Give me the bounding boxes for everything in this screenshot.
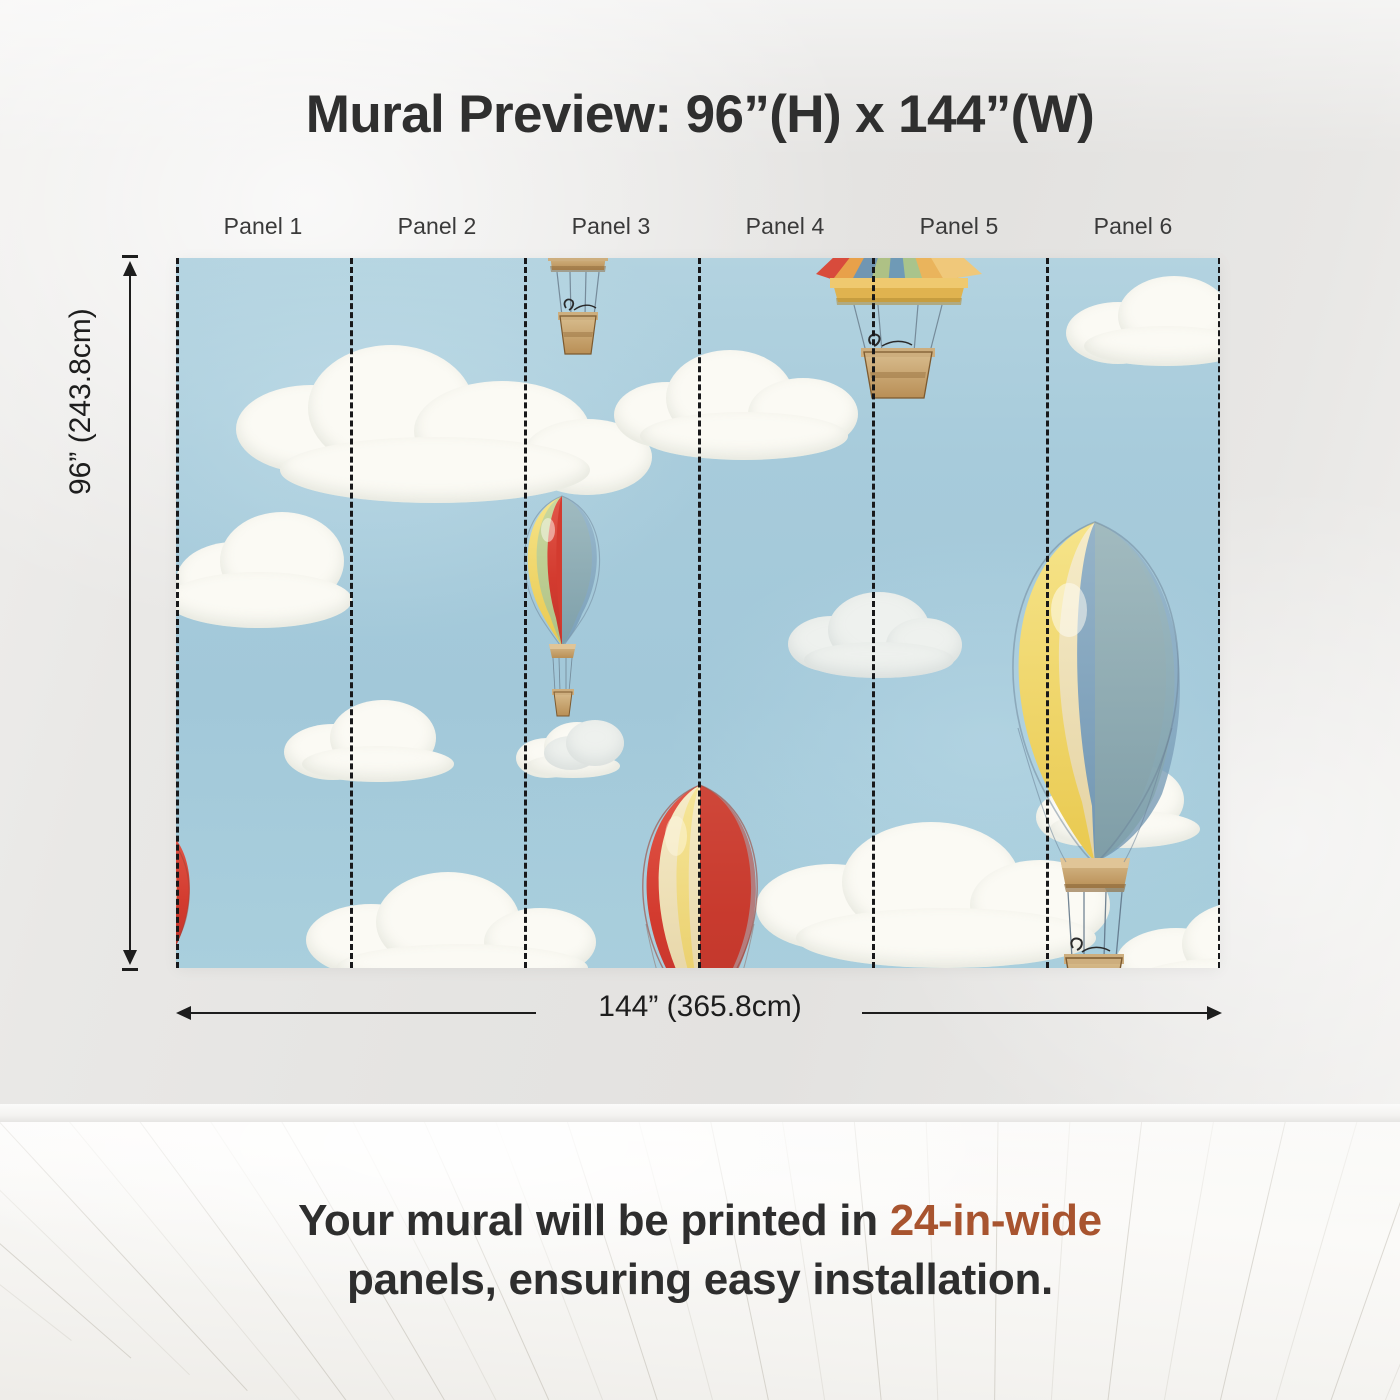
balloon-top-panel5 (816, 258, 982, 398)
panel-divider-4 (872, 258, 875, 968)
panel-label-4: Panel 4 (698, 213, 872, 247)
mural-preview-image (176, 258, 1220, 968)
panel-divider-right-edge (1218, 258, 1220, 968)
width-dimension-label: 144” (365.8cm) (0, 990, 1400, 1024)
panel-label-1: Panel 1 (176, 213, 350, 247)
height-tick-bottom (122, 968, 138, 971)
mural-preview-page: Mural Preview: 96”(H) x 144”(W) Panel 1 … (0, 0, 1400, 1400)
panel-label-row: Panel 1 Panel 2 Panel 3 Panel 4 Panel 5 … (176, 213, 1220, 247)
height-arrow-shaft (129, 263, 131, 963)
height-dimension-arrow (122, 255, 138, 971)
width-dimension-text: 144” (365.8cm) (584, 990, 815, 1023)
panel-label-2: Panel 2 (350, 213, 524, 247)
caption-accent-panel-width: 24-in-wide (890, 1196, 1102, 1245)
height-tick-top (122, 255, 138, 258)
panel-label-3: Panel 3 (524, 213, 698, 247)
balloon-small-mid (524, 496, 599, 716)
panel-divider-2 (524, 258, 527, 968)
caption-line1-before: Your mural will be printed in (298, 1196, 890, 1245)
baseboard (0, 1104, 1400, 1124)
arrow-down-icon (123, 950, 137, 965)
balloon-large-right (1013, 522, 1180, 968)
balloon-top-panel3 (536, 258, 608, 354)
panel-divider-1 (350, 258, 353, 968)
footer-caption: Your mural will be printed in 24-in-wide… (0, 1192, 1400, 1309)
height-dimension-label: 96” (243.8cm) (64, 308, 98, 495)
caption-line2: panels, ensuring easy installation. (347, 1255, 1053, 1304)
panel-divider-3 (698, 258, 701, 968)
panel-label-6: Panel 6 (1046, 213, 1220, 247)
page-title: Mural Preview: 96”(H) x 144”(W) (0, 84, 1400, 145)
panel-label-5: Panel 5 (872, 213, 1046, 247)
panel-divider-left-edge (176, 258, 179, 968)
panel-divider-5 (1046, 258, 1049, 968)
